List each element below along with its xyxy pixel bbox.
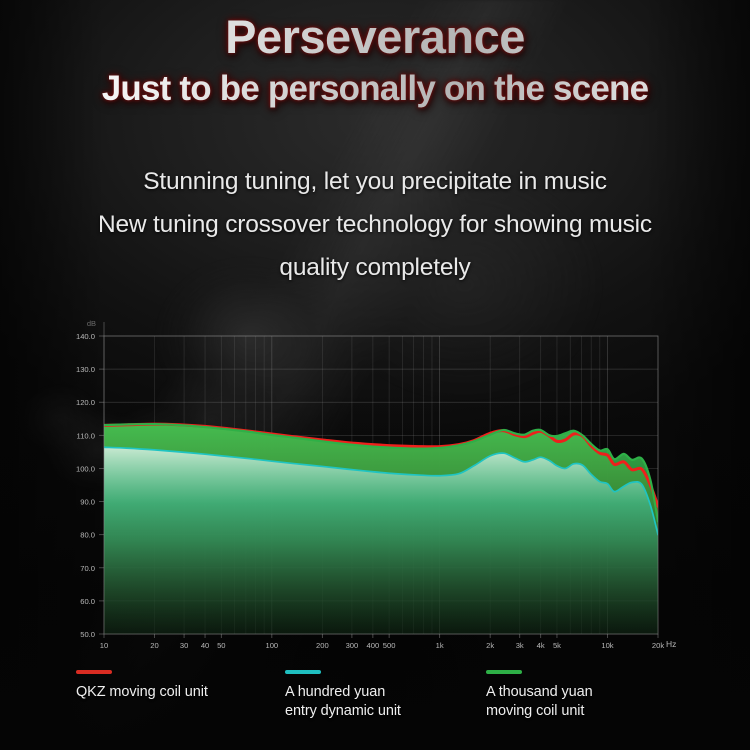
- legend-swatch-2: [486, 670, 522, 674]
- page-subtitle: Just to be personally on the scene: [0, 66, 750, 112]
- chart-canvas: 140.0130.0120.0110.0100.090.080.070.060.…: [0, 300, 750, 670]
- legend-item-1[interactable]: A hundred yuan entry dynamic unit: [285, 670, 401, 721]
- svg-text:40: 40: [201, 641, 209, 650]
- svg-text:110.0: 110.0: [77, 431, 95, 440]
- svg-text:1k: 1k: [436, 641, 444, 650]
- legend-item-0[interactable]: QKZ moving coil unit: [76, 670, 208, 702]
- frequency-response-chart: 140.0130.0120.0110.0100.090.080.070.060.…: [0, 300, 750, 670]
- svg-text:50: 50: [217, 641, 225, 650]
- svg-text:70.0: 70.0: [80, 564, 95, 573]
- svg-text:100: 100: [265, 641, 278, 650]
- svg-text:4k: 4k: [537, 641, 545, 650]
- svg-text:400: 400: [367, 641, 380, 650]
- chart-legend: QKZ moving coil unit A hundred yuan entr…: [0, 670, 750, 750]
- description-line-3: quality completely: [0, 246, 750, 289]
- svg-text:200: 200: [316, 641, 329, 650]
- svg-text:10: 10: [100, 641, 108, 650]
- svg-text:2k: 2k: [486, 641, 494, 650]
- svg-text:30: 30: [180, 641, 188, 650]
- chart-x-axis-labels: 10203040501002003004005001k2k3k4k5k10k20…: [100, 634, 665, 650]
- description-line-2: New tuning crossover technology for show…: [0, 203, 750, 246]
- legend-label-1-line2: entry dynamic unit: [285, 702, 401, 721]
- legend-label-1-line1: A hundred yuan: [285, 683, 401, 702]
- svg-text:60.0: 60.0: [80, 597, 95, 606]
- legend-label-0-line1: QKZ moving coil unit: [76, 683, 208, 702]
- legend-item-2[interactable]: A thousand yuan moving coil unit: [486, 670, 593, 721]
- headline-block: Perseverance Just to be personally on th…: [0, 8, 750, 112]
- description-block: Stunning tuning, let you precipitate in …: [0, 160, 750, 289]
- legend-swatch-1: [285, 670, 321, 674]
- svg-text:80.0: 80.0: [80, 531, 95, 540]
- svg-text:10k: 10k: [601, 641, 613, 650]
- svg-text:3k: 3k: [516, 641, 524, 650]
- svg-text:100.0: 100.0: [76, 464, 95, 473]
- svg-text:140.0: 140.0: [76, 332, 95, 341]
- svg-text:300: 300: [346, 641, 359, 650]
- description-line-1: Stunning tuning, let you precipitate in …: [0, 160, 750, 203]
- svg-text:90.0: 90.0: [80, 498, 95, 507]
- svg-text:5k: 5k: [553, 641, 561, 650]
- legend-label-2-line1: A thousand yuan: [486, 683, 593, 702]
- svg-text:130.0: 130.0: [76, 365, 95, 374]
- svg-text:20k: 20k: [652, 641, 664, 650]
- chart-area-fills: [104, 424, 658, 634]
- svg-text:120.0: 120.0: [76, 398, 95, 407]
- legend-label-2-line2: moving coil unit: [486, 702, 593, 721]
- page-title: Perseverance: [0, 8, 750, 66]
- y-axis-unit-label: dB: [87, 319, 96, 328]
- legend-swatch-0: [76, 670, 112, 674]
- svg-text:50.0: 50.0: [80, 630, 95, 639]
- svg-text:20: 20: [150, 641, 158, 650]
- chart-y-axis-labels: 140.0130.0120.0110.0100.090.080.070.060.…: [76, 332, 95, 639]
- x-axis-unit-label: Hz: [666, 639, 676, 649]
- svg-text:500: 500: [383, 641, 396, 650]
